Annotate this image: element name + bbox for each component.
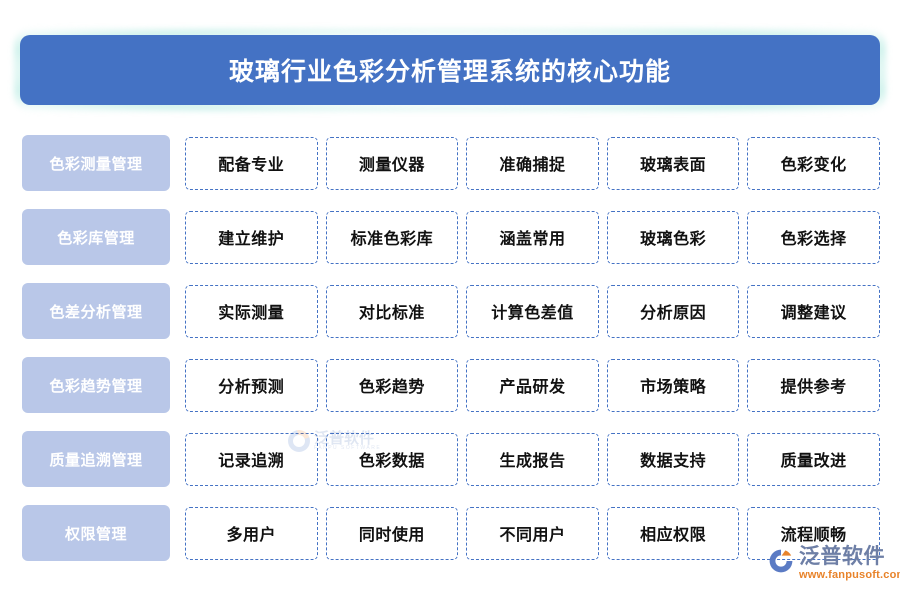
- header-banner: 玻璃行业色彩分析管理系统的核心功能: [20, 35, 880, 105]
- row-cells: 实际测量 对比标准 计算色差值 分析原因 调整建议: [185, 285, 880, 338]
- feature-cell[interactable]: 同时使用: [326, 507, 459, 560]
- feature-row: 质量追溯管理 记录追溯 色彩数据 生成报告 数据支持 质量改进: [22, 422, 880, 496]
- feature-row: 色差分析管理 实际测量 对比标准 计算色差值 分析原因 调整建议: [22, 274, 880, 348]
- feature-cell[interactable]: 准确捕捉: [466, 137, 599, 190]
- feature-row: 色彩趋势管理 分析预测 色彩趋势 产品研发 市场策略 提供参考: [22, 348, 880, 422]
- feature-cell[interactable]: 分析预测: [185, 359, 318, 412]
- feature-cell[interactable]: 生成报告: [466, 433, 599, 486]
- feature-cell[interactable]: 玻璃色彩: [607, 211, 740, 264]
- feature-cell[interactable]: 配备专业: [185, 137, 318, 190]
- header-bar: 玻璃行业色彩分析管理系统的核心功能: [20, 35, 880, 105]
- feature-cell[interactable]: 建立维护: [185, 211, 318, 264]
- row-cells: 配备专业 测量仪器 准确捕捉 玻璃表面 色彩变化: [185, 137, 880, 190]
- row-cells: 分析预测 色彩趋势 产品研发 市场策略 提供参考: [185, 359, 880, 412]
- fanpu-logo-icon: [768, 548, 794, 574]
- feature-cell[interactable]: 多用户: [185, 507, 318, 560]
- row-label-permission[interactable]: 权限管理: [22, 505, 170, 561]
- logo-text-block: 泛普软件 www.fanpusoft.com: [799, 546, 900, 584]
- infographic-page: 玻璃行业色彩分析管理系统的核心功能 色彩测量管理 配备专业 测量仪器 准确捕捉 …: [0, 0, 900, 600]
- row-label-color-trend[interactable]: 色彩趋势管理: [22, 357, 170, 413]
- feature-cell[interactable]: 色彩变化: [747, 137, 880, 190]
- feature-row: 色彩测量管理 配备专业 测量仪器 准确捕捉 玻璃表面 色彩变化: [22, 126, 880, 200]
- feature-cell[interactable]: 标准色彩库: [326, 211, 459, 264]
- feature-cell[interactable]: 质量改进: [747, 433, 880, 486]
- feature-cell[interactable]: 提供参考: [747, 359, 880, 412]
- feature-cell[interactable]: 数据支持: [607, 433, 740, 486]
- row-label-color-difference-analysis[interactable]: 色差分析管理: [22, 283, 170, 339]
- feature-cell[interactable]: 玻璃表面: [607, 137, 740, 190]
- feature-cell[interactable]: 计算色差值: [466, 285, 599, 338]
- brand-logo: 泛普软件 www.fanpusoft.com: [768, 546, 900, 584]
- logo-brand-cn: 泛普软件: [799, 546, 900, 567]
- feature-cell[interactable]: 市场策略: [607, 359, 740, 412]
- feature-cell[interactable]: 相应权限: [607, 507, 740, 560]
- feature-cell[interactable]: 色彩趋势: [326, 359, 459, 412]
- feature-cell[interactable]: 产品研发: [466, 359, 599, 412]
- feature-grid: 色彩测量管理 配备专业 测量仪器 准确捕捉 玻璃表面 色彩变化 色彩库管理 建立…: [22, 126, 880, 570]
- row-cells: 建立维护 标准色彩库 涵盖常用 玻璃色彩 色彩选择: [185, 211, 880, 264]
- feature-cell[interactable]: 不同用户: [466, 507, 599, 560]
- feature-cell[interactable]: 调整建议: [747, 285, 880, 338]
- row-label-color-measurement[interactable]: 色彩测量管理: [22, 135, 170, 191]
- logo-url: www.fanpusoft.com: [799, 567, 900, 584]
- feature-cell[interactable]: 色彩数据: [326, 433, 459, 486]
- row-cells: 记录追溯 色彩数据 生成报告 数据支持 质量改进: [185, 433, 880, 486]
- row-label-quality-traceability[interactable]: 质量追溯管理: [22, 431, 170, 487]
- feature-cell[interactable]: 实际测量: [185, 285, 318, 338]
- feature-row: 权限管理 多用户 同时使用 不同用户 相应权限 流程顺畅: [22, 496, 880, 570]
- feature-cell[interactable]: 色彩选择: [747, 211, 880, 264]
- feature-row: 色彩库管理 建立维护 标准色彩库 涵盖常用 玻璃色彩 色彩选择: [22, 200, 880, 274]
- feature-cell[interactable]: 分析原因: [607, 285, 740, 338]
- feature-cell[interactable]: 对比标准: [326, 285, 459, 338]
- row-label-color-library[interactable]: 色彩库管理: [22, 209, 170, 265]
- page-title: 玻璃行业色彩分析管理系统的核心功能: [229, 52, 671, 88]
- feature-cell[interactable]: 记录追溯: [185, 433, 318, 486]
- feature-cell[interactable]: 测量仪器: [326, 137, 459, 190]
- feature-cell[interactable]: 涵盖常用: [466, 211, 599, 264]
